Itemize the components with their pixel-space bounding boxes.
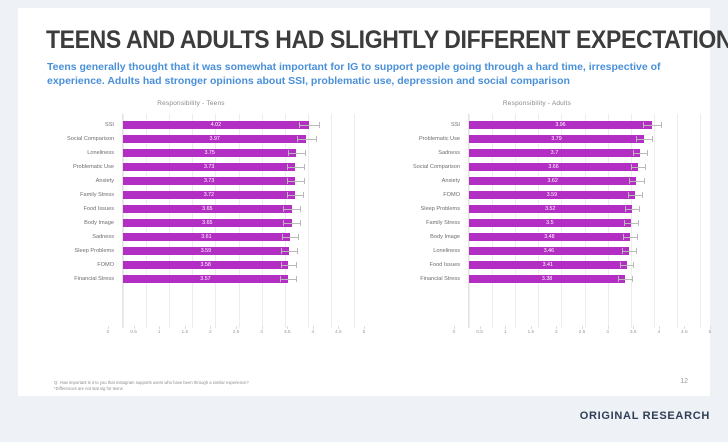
bar	[123, 261, 288, 269]
error-bar	[643, 125, 661, 126]
error-bar	[299, 125, 319, 126]
error-bar	[281, 265, 297, 266]
bar	[123, 121, 309, 129]
axis-tickmark	[659, 326, 660, 329]
bar-row: 3.58	[123, 258, 354, 272]
bars-area-adults: 3.963.793.73.663.623.593.523.53.483.463.…	[468, 114, 700, 328]
axis-tick-label: 5	[709, 330, 712, 335]
error-bar-cap	[633, 262, 634, 268]
bar-row: 3.97	[123, 132, 354, 146]
axis-tickmark	[313, 326, 314, 329]
category-label: Sleep Problems	[75, 244, 115, 258]
category-labels-teens: SSISocial ComparisonLonelinessProblemati…	[32, 114, 118, 328]
error-bar	[622, 251, 636, 252]
brand-footer-bar: ORIGINAL RESEARCH	[0, 396, 728, 442]
bar-row: 3.7	[469, 146, 700, 160]
bar	[123, 191, 295, 199]
error-bar-cap	[319, 122, 320, 128]
axis-tickmark	[608, 326, 609, 329]
chart-title-adults: Responsibility - Adults	[364, 100, 710, 107]
bar-row: 3.62	[469, 174, 700, 188]
bar	[469, 247, 629, 255]
error-bar-cap	[298, 234, 299, 240]
category-label: Social Comparison	[67, 132, 114, 146]
gridline	[354, 114, 355, 328]
error-bar-cap	[622, 248, 623, 254]
error-bar-cap	[620, 262, 621, 268]
bar	[123, 149, 296, 157]
error-bar-cap	[297, 136, 298, 142]
axis-tickmark	[185, 326, 186, 329]
chart-title-teens: Responsibility - Teens	[18, 100, 364, 107]
chart-panel-teens: Responsibility - Teens SSISocial Compari…	[18, 100, 364, 350]
category-label: Anxiety	[96, 174, 114, 188]
error-bar-cap	[297, 248, 298, 254]
category-label: FOMO	[443, 188, 460, 202]
error-bar-cap	[639, 206, 640, 212]
bar	[469, 233, 630, 241]
x-axis-adults: 00.511.522.533.544.55	[454, 330, 710, 342]
error-bar-cap	[287, 192, 288, 198]
axis-tickmark	[531, 326, 532, 329]
error-bar-cap	[281, 248, 282, 254]
error-bar	[633, 153, 648, 154]
category-label: SSI	[105, 118, 114, 132]
axis-tick-label: 2.5	[233, 330, 240, 335]
category-label: Family Stress	[80, 188, 114, 202]
error-bar-cap	[282, 234, 283, 240]
axis-tick-label: 0	[453, 330, 456, 335]
category-label: Food Issues	[84, 202, 114, 216]
bar	[469, 149, 640, 157]
error-bar-cap	[283, 206, 284, 212]
error-bar-cap	[633, 150, 634, 156]
axis-tickmark	[454, 326, 455, 329]
axis-tickmark	[236, 326, 237, 329]
error-bar-cap	[280, 276, 281, 282]
axis-tickmark	[684, 326, 685, 329]
error-bar-cap	[632, 276, 633, 282]
axis-tickmark	[710, 326, 711, 329]
axis-tick-label: 4.5	[681, 330, 688, 335]
bar	[123, 233, 290, 241]
error-bar-cap	[296, 276, 297, 282]
error-bar	[297, 139, 315, 140]
error-bar	[287, 195, 304, 196]
bar-row: 3.96	[469, 118, 700, 132]
error-bar	[288, 153, 305, 154]
category-label: Sadness	[438, 146, 460, 160]
category-label: Social Comparison	[413, 160, 460, 174]
error-bar-cap	[628, 192, 629, 198]
error-bar	[283, 223, 300, 224]
bar-row: 3.38	[469, 272, 700, 286]
axis-tick-label: 0.5	[476, 330, 483, 335]
error-bar	[636, 139, 652, 140]
category-label: Family Stress	[426, 216, 460, 230]
bar-row: 3.72	[123, 188, 354, 202]
axis-tick-label: 2	[209, 330, 212, 335]
category-label: Body Image	[430, 230, 460, 244]
bar-row: 3.46	[469, 244, 700, 258]
x-axis-teens: 00.511.522.533.544.55	[108, 330, 364, 342]
plot-area-teens: SSISocial ComparisonLonelinessProblemati…	[32, 114, 354, 328]
error-bar-cap	[636, 248, 637, 254]
error-bar-cap	[625, 206, 626, 212]
gridline	[700, 114, 701, 328]
axis-tickmark	[505, 326, 506, 329]
bar-row: 3.65	[123, 202, 354, 216]
bar	[123, 205, 292, 213]
axis-tickmark	[633, 326, 634, 329]
axis-tickmark	[338, 326, 339, 329]
category-label: FOMO	[97, 258, 114, 272]
bar	[123, 177, 295, 185]
error-bar-cap	[283, 220, 284, 226]
bar-row: 3.73	[123, 160, 354, 174]
error-bar-cap	[643, 122, 644, 128]
category-label: Financial Stress	[420, 272, 460, 286]
error-bar-cap	[287, 178, 288, 184]
axis-tick-label: 1	[158, 330, 161, 335]
axis-tick-label: 2.5	[579, 330, 586, 335]
error-bar	[631, 167, 646, 168]
bar-row: 4.02	[123, 118, 354, 132]
error-bar-cap	[303, 192, 304, 198]
category-label: Loneliness	[87, 146, 114, 160]
brand-label: ORIGINAL RESEARCH	[580, 410, 710, 422]
charts-container: Responsibility - Teens SSISocial Compari…	[18, 100, 710, 350]
bar-row: 3.57	[123, 272, 354, 286]
bar	[469, 121, 652, 129]
category-label: Sleep Problems	[421, 202, 461, 216]
error-bar-cap	[281, 262, 282, 268]
axis-tick-label: 1.5	[181, 330, 188, 335]
error-bar	[628, 195, 642, 196]
error-bar-cap	[652, 136, 653, 142]
error-bar-cap	[661, 122, 662, 128]
axis-tickmark	[210, 326, 211, 329]
error-bar-cap	[304, 178, 305, 184]
error-bar-cap	[623, 234, 624, 240]
error-bar-cap	[618, 276, 619, 282]
error-bar	[623, 237, 637, 238]
axis-tickmark	[556, 326, 557, 329]
category-label: Problematic Use	[419, 132, 460, 146]
axis-tick-label: 3.5	[630, 330, 637, 335]
category-label: Body Image	[84, 216, 114, 230]
bar-row: 3.52	[469, 202, 700, 216]
bar-row: 3.61	[123, 230, 354, 244]
bar	[123, 247, 289, 255]
bar	[123, 135, 306, 143]
bar	[469, 135, 644, 143]
category-label: Food Issues	[430, 258, 460, 272]
axis-tickmark	[108, 326, 109, 329]
error-bar-cap	[629, 178, 630, 184]
error-bar-cap	[287, 164, 288, 170]
slide-canvas: TEENS AND ADULTS HAD SLIGHTLY DIFFERENT …	[18, 8, 710, 396]
axis-tick-label: 4	[657, 330, 660, 335]
error-bar-cap	[631, 164, 632, 170]
bar	[123, 163, 295, 171]
bar-row: 3.59	[123, 244, 354, 258]
bar-row: 3.48	[469, 230, 700, 244]
axis-tick-label: 3	[260, 330, 263, 335]
error-bar-cap	[642, 192, 643, 198]
bar-row: 3.73	[123, 174, 354, 188]
bar	[469, 191, 635, 199]
error-bar-cap	[296, 262, 297, 268]
bar	[469, 205, 632, 213]
bar-row: 3.59	[469, 188, 700, 202]
bar	[469, 163, 638, 171]
error-bar	[283, 209, 300, 210]
bar	[469, 219, 631, 227]
page-title: TEENS AND ADULTS HAD SLIGHTLY DIFFERENT …	[46, 26, 728, 55]
error-bar-cap	[316, 136, 317, 142]
axis-tickmark	[480, 326, 481, 329]
error-bar	[618, 279, 632, 280]
axis-tick-label: 0.5	[130, 330, 137, 335]
bar-row: 3.41	[469, 258, 700, 272]
error-bar-cap	[638, 220, 639, 226]
bar-row: 3.65	[123, 216, 354, 230]
plot-area-adults: SSIProblematic UseSadnessSocial Comparis…	[378, 114, 700, 328]
axis-tickmark	[287, 326, 288, 329]
error-bar-cap	[304, 164, 305, 170]
error-bar-cap	[637, 234, 638, 240]
axis-tickmark	[159, 326, 160, 329]
error-bar	[287, 167, 304, 168]
bar	[123, 219, 292, 227]
error-bar	[625, 209, 639, 210]
error-bar-cap	[299, 122, 300, 128]
error-bar	[629, 181, 644, 182]
bar-row: 3.5	[469, 216, 700, 230]
error-bar	[287, 181, 304, 182]
bar-row: 3.79	[469, 132, 700, 146]
error-bar-cap	[644, 178, 645, 184]
bar-row: 3.75	[123, 146, 354, 160]
error-bar	[280, 279, 296, 280]
error-bar-cap	[300, 220, 301, 226]
chart-panel-adults: Responsibility - Adults SSIProblematic U…	[364, 100, 710, 350]
axis-tick-label: 3.5	[284, 330, 291, 335]
axis-tick-label: 3	[606, 330, 609, 335]
error-bar	[624, 223, 638, 224]
axis-tick-label: 0	[107, 330, 110, 335]
error-bar-cap	[288, 150, 289, 156]
category-label: Loneliness	[433, 244, 460, 258]
axis-tickmark	[262, 326, 263, 329]
axis-tick-label: 4.5	[335, 330, 342, 335]
bars-area-teens: 4.023.973.753.733.733.723.653.653.613.59…	[122, 114, 354, 328]
footnote-disclaimer: *Differences are not stat sig for teens	[54, 386, 249, 392]
category-label: Sadness	[92, 230, 114, 244]
axis-tickmark	[582, 326, 583, 329]
bar	[469, 261, 627, 269]
footnote: Q: How important is it to you that Insta…	[54, 380, 249, 392]
bar	[469, 177, 636, 185]
axis-tick-label: 1.5	[527, 330, 534, 335]
error-bar	[281, 251, 297, 252]
subtitle-text: Teens generally thought that it was some…	[47, 61, 687, 88]
error-bar-cap	[624, 220, 625, 226]
axis-tick-label: 4	[311, 330, 314, 335]
axis-tick-label: 2	[555, 330, 558, 335]
category-labels-adults: SSIProblematic UseSadnessSocial Comparis…	[378, 114, 464, 328]
error-bar-cap	[645, 164, 646, 170]
error-bar-cap	[300, 206, 301, 212]
bar	[123, 275, 288, 283]
category-label: Financial Stress	[74, 272, 114, 286]
category-label: Problematic Use	[73, 160, 114, 174]
category-label: SSI	[451, 118, 460, 132]
bar	[469, 275, 625, 283]
bar-row: 3.66	[469, 160, 700, 174]
error-bar	[282, 237, 298, 238]
error-bar-cap	[647, 150, 648, 156]
axis-tickmark	[134, 326, 135, 329]
page-number: 12	[680, 378, 688, 385]
category-label: Anxiety	[442, 174, 460, 188]
error-bar-cap	[636, 136, 637, 142]
axis-tick-label: 1	[504, 330, 507, 335]
error-bar	[620, 265, 634, 266]
error-bar-cap	[305, 150, 306, 156]
